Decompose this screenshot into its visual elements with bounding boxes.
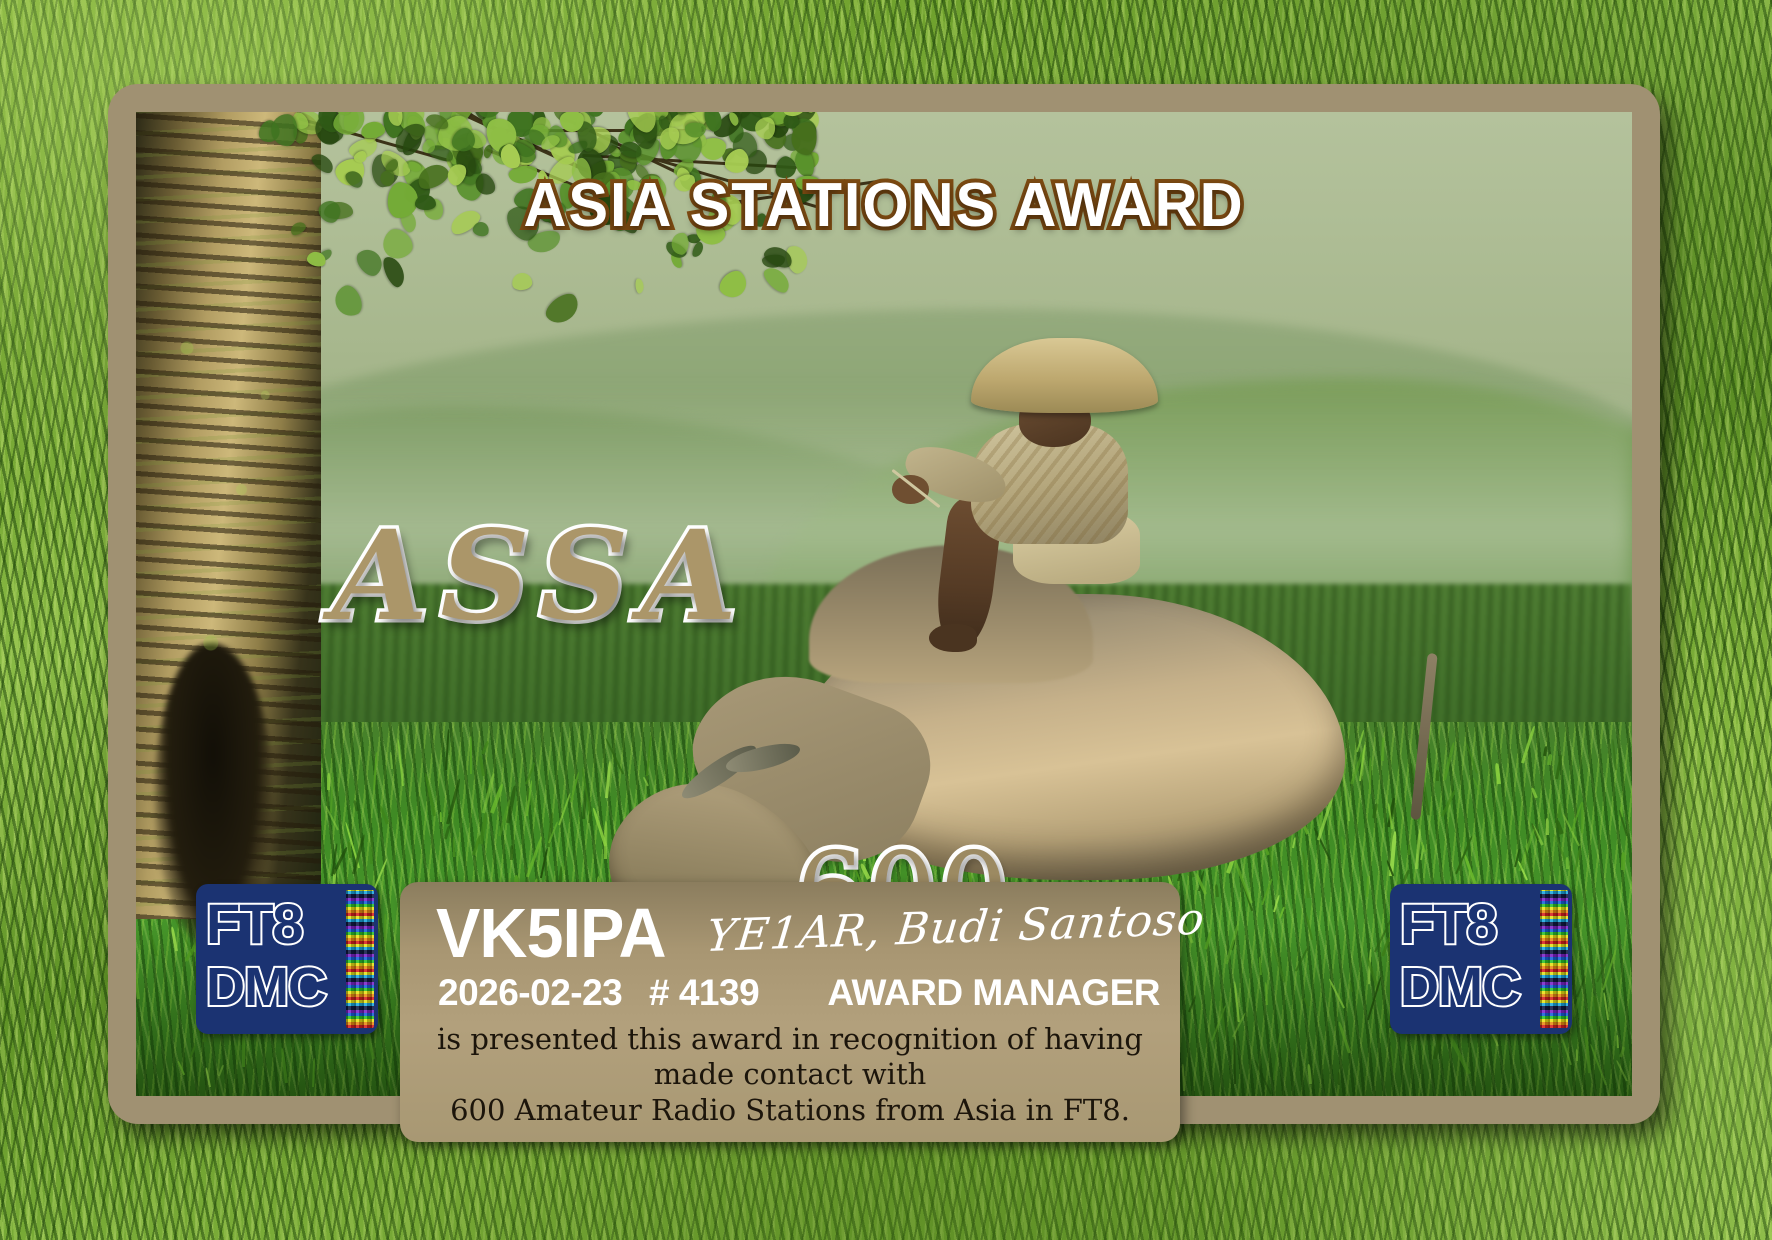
grass-blade — [1555, 820, 1564, 835]
grass-blade — [1518, 828, 1536, 872]
manager-signature: YE1AR, Budi Santoso — [704, 894, 1207, 962]
grass-blade — [453, 837, 456, 857]
award-meta-row: 2026-02-23 # 4139 AWARD MANAGER — [420, 972, 1160, 1014]
award-description-line2: 600 Amateur Radio Stations from Asia in … — [420, 1093, 1160, 1128]
callsign-signature-row: VK5IPA YE1AR, Budi Santoso — [420, 894, 1160, 966]
grass-blade — [604, 820, 608, 858]
grass-blade — [1557, 802, 1562, 818]
canopy-leaf — [760, 263, 793, 296]
award-info-panel: VK5IPA YE1AR, Budi Santoso 2026-02-23 # … — [400, 882, 1180, 1142]
grass-blade — [605, 761, 612, 798]
grass-blade — [330, 772, 334, 813]
ft8dmc-logo-right: FT8 DMC — [1390, 884, 1572, 1034]
rider-hand — [892, 475, 928, 504]
logo-dmc-text: DMC — [206, 960, 326, 1014]
grass-blade — [1612, 739, 1617, 770]
grass-blade — [379, 805, 389, 825]
farmer-rider — [892, 338, 1194, 623]
canopy-leaf — [353, 244, 387, 279]
award-certificate: ASIA STATIONS AWARD ASSA 600 FT8 DMC FT8… — [108, 84, 1660, 1124]
grass-blade — [327, 773, 330, 790]
award-serial-number: # 4139 — [649, 972, 809, 1014]
canopy-leaf — [270, 113, 296, 146]
grass-blade — [646, 735, 652, 776]
recipient-callsign: VK5IPA — [436, 901, 666, 965]
grass-blade — [479, 755, 486, 776]
grass-blade — [370, 833, 373, 864]
grass-blade — [424, 772, 436, 816]
grass-blade — [1521, 726, 1535, 764]
waterfall-spectrum-icon — [1540, 890, 1568, 1028]
grass-blade — [353, 801, 359, 812]
grass-blade — [445, 729, 449, 770]
grass-blade — [1530, 787, 1537, 799]
grass-blade — [1566, 857, 1569, 869]
grass-blade — [558, 793, 571, 826]
grass-blade — [1621, 851, 1625, 869]
award-manager-label: AWARD MANAGER — [809, 972, 1160, 1014]
award-abbreviation: ASSA — [332, 504, 749, 649]
buffalo-tail — [1410, 653, 1437, 820]
grass-blade — [1524, 847, 1536, 888]
grass-blade — [1555, 754, 1562, 779]
award-title: ASIA STATIONS AWARD — [166, 170, 1602, 241]
canopy-leaf — [715, 267, 751, 303]
conical-hat-icon — [971, 338, 1158, 412]
grass-blade — [570, 771, 579, 802]
rider-foot — [929, 624, 977, 653]
canopy-leaf — [690, 241, 705, 259]
logo-ft8-text: FT8 — [206, 896, 303, 952]
grass-blade — [526, 836, 543, 877]
grass-blade — [642, 777, 648, 787]
canopy-leaf — [635, 278, 645, 294]
award-description: is presented this award in recognition o… — [420, 1022, 1160, 1128]
grass-blade — [373, 858, 388, 890]
grass-blade — [397, 738, 404, 786]
waterfall-spectrum-icon — [346, 890, 374, 1028]
canopy-leaf — [379, 253, 408, 289]
grass-blade — [510, 845, 514, 860]
grass-blade — [446, 778, 461, 824]
ft8dmc-logo-left: FT8 DMC — [196, 884, 378, 1034]
grass-blade — [1554, 834, 1566, 860]
grass-blade — [1543, 746, 1547, 757]
award-description-line1: is presented this award in recognition o… — [420, 1022, 1160, 1093]
grass-blade — [470, 736, 472, 774]
grass-blade — [1547, 754, 1552, 765]
award-date: 2026-02-23 — [438, 972, 649, 1014]
grass-blade — [1546, 818, 1550, 835]
grass-blade — [490, 783, 504, 813]
canopy-leaf — [511, 271, 533, 290]
grass-blade — [373, 752, 377, 790]
grass-blade — [440, 812, 442, 822]
tree-moss — [136, 230, 306, 820]
grass-blade — [389, 752, 392, 769]
grass-blade — [444, 825, 451, 839]
grass-blade — [479, 813, 488, 845]
grass-blade — [540, 848, 548, 878]
grass-blade — [1574, 847, 1581, 872]
grass-blade — [481, 741, 489, 755]
logo-ft8-text: FT8 — [1400, 896, 1497, 952]
grass-blade — [472, 835, 481, 856]
logo-dmc-text: DMC — [1400, 960, 1520, 1014]
